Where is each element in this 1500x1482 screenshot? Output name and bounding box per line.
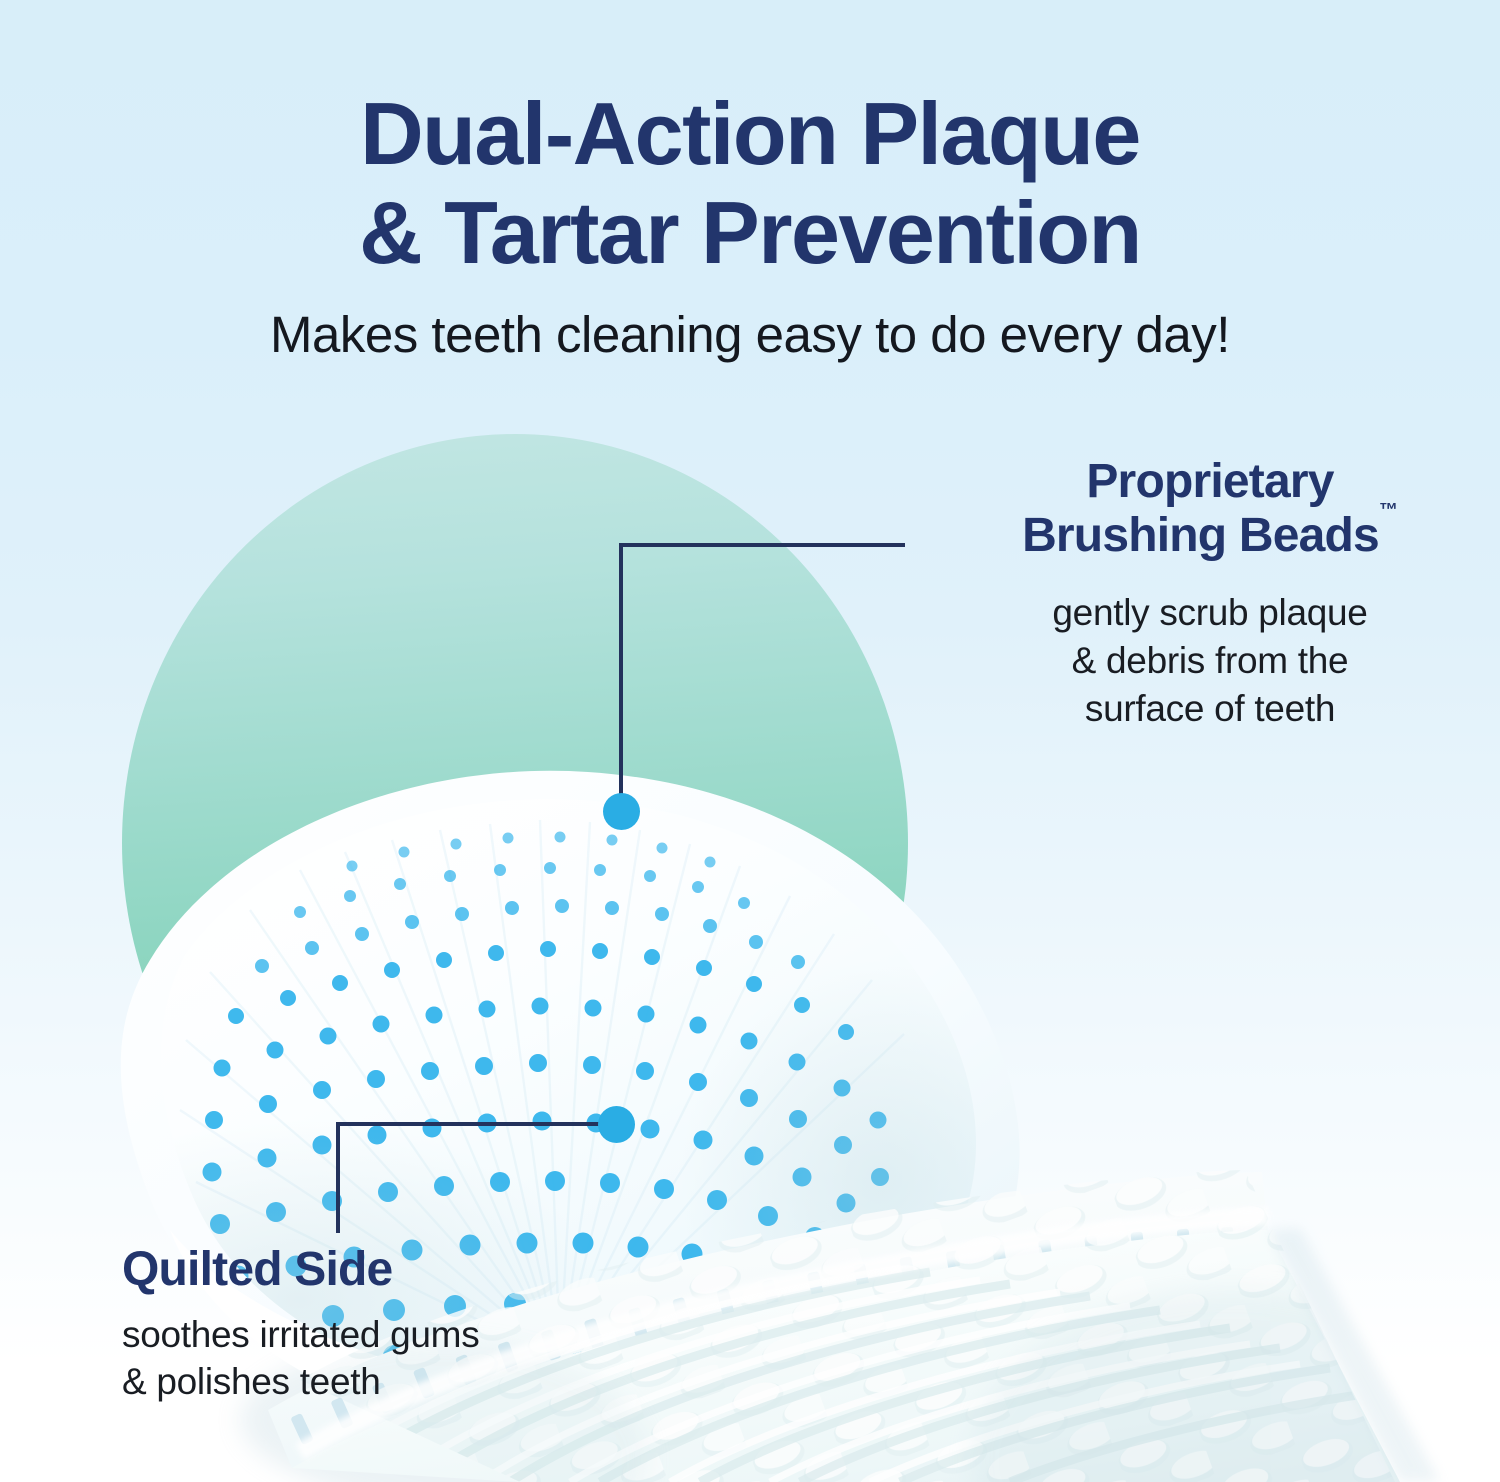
callout-quilted-side: Quilted Side soothes irritated gums & po…: [122, 1244, 682, 1406]
page-title: Dual-Action Plaque & Tartar Prevention: [0, 0, 1500, 283]
callout-body-brushing-beads: gently scrub plaque & debris from the su…: [960, 589, 1460, 733]
callout-brushing-beads: Proprietary Brushing Beads™ gently scrub…: [960, 455, 1460, 733]
header: Dual-Action Plaque & Tartar Prevention M…: [0, 0, 1500, 364]
callout-body-quilted-side: soothes irritated gums & polishes teeth: [122, 1311, 682, 1406]
callout-title-brushing-beads: Proprietary Brushing Beads™: [1022, 455, 1398, 563]
page-subtitle: Makes teeth cleaning easy to do every da…: [0, 305, 1500, 364]
trademark-symbol: ™: [1379, 500, 1398, 521]
callout-title-quilted-side: Quilted Side: [122, 1244, 682, 1297]
callout-title-text: Proprietary Brushing Beads: [1022, 455, 1379, 562]
callout-dot-quilted-side[interactable]: [598, 1106, 635, 1143]
callout-dot-brushing-beads[interactable]: [603, 793, 640, 830]
product-infographic: Dual-Action Plaque & Tartar Prevention M…: [0, 0, 1500, 1482]
